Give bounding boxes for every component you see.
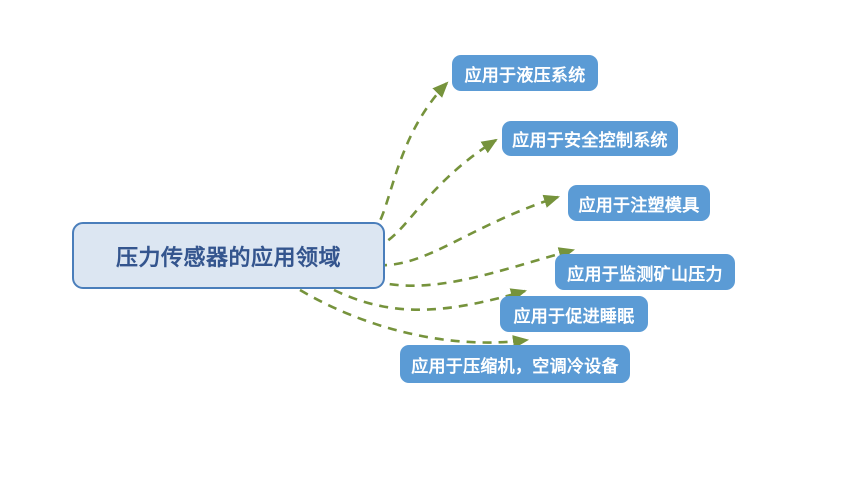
connector-to-n5 <box>334 290 525 310</box>
child-node-injection-mold[interactable]: 应用于注塑模具 <box>568 185 710 221</box>
child-node-compressor-hvac[interactable]: 应用于压缩机，空调冷设备 <box>400 345 630 383</box>
connector-to-n1 <box>372 83 447 233</box>
connector-to-n6 <box>300 290 527 343</box>
child-node-safety-control-system[interactable]: 应用于安全控制系统 <box>502 121 678 156</box>
connector-to-n3 <box>378 197 558 265</box>
child-node-label: 应用于液压系统 <box>464 61 585 86</box>
connector-to-n4 <box>374 250 573 286</box>
connector-to-n2 <box>374 140 496 247</box>
root-node-label: 压力传感器的应用领域 <box>116 240 341 272</box>
child-node-label: 应用于压缩机，空调冷设备 <box>411 352 619 377</box>
child-node-mine-pressure-monitoring[interactable]: 应用于监测矿山压力 <box>555 254 735 290</box>
child-node-hydraulic-system[interactable]: 应用于液压系统 <box>452 55 598 91</box>
child-node-sleep-improvement[interactable]: 应用于促进睡眠 <box>500 296 648 332</box>
mindmap-canvas: 压力传感器的应用领域 应用于液压系统 应用于安全控制系统 应用于注塑模具 应用于… <box>0 0 853 478</box>
root-node[interactable]: 压力传感器的应用领域 <box>72 222 385 289</box>
child-node-label: 应用于安全控制系统 <box>512 126 668 151</box>
child-node-label: 应用于监测矿山压力 <box>567 260 723 285</box>
child-node-label: 应用于注塑模具 <box>578 191 699 216</box>
child-node-label: 应用于促进睡眠 <box>513 302 634 327</box>
